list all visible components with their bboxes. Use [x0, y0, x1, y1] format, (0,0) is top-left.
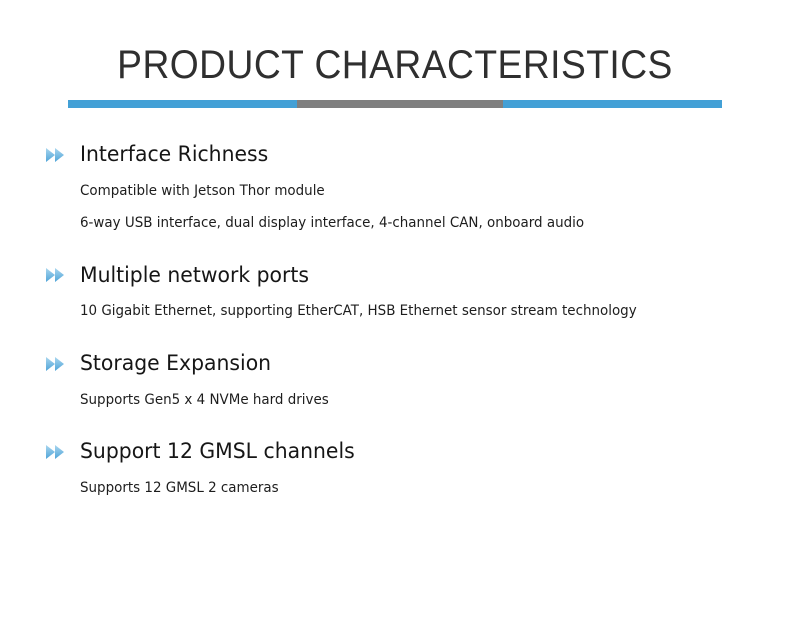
feature-title: Multiple network ports — [80, 263, 309, 288]
feature-title: Interface Richness — [80, 142, 268, 167]
double-chevron-right-icon — [46, 268, 66, 282]
divider-segment-right — [503, 100, 722, 108]
feature-detail-line: Compatible with Jetson Thor module — [80, 182, 717, 200]
feature-detail-line: 6-way USB interface, dual display interf… — [80, 214, 717, 232]
feature-detail-line: Supports 12 GMSL 2 cameras — [80, 479, 717, 497]
feature-list: Interface Richness Compatible with Jetso… — [0, 140, 790, 497]
feature-heading-row: Storage Expansion — [46, 349, 744, 379]
feature-item: Storage Expansion Supports Gen5 x 4 NVMe… — [46, 349, 744, 409]
feature-heading-row: Interface Richness — [46, 140, 744, 170]
feature-title: Storage Expansion — [80, 351, 271, 376]
feature-detail-lines: Compatible with Jetson Thor module 6-way… — [46, 182, 744, 232]
feature-detail-line: Supports Gen5 x 4 NVMe hard drives — [80, 391, 717, 409]
feature-detail-lines: Supports 12 GMSL 2 cameras — [46, 479, 744, 497]
page-title: PRODUCT CHARACTERISTICS — [28, 42, 763, 88]
double-chevron-right-icon — [46, 445, 66, 459]
feature-item: Multiple network ports 10 Gigabit Ethern… — [46, 260, 744, 320]
double-chevron-right-icon — [46, 148, 66, 162]
divider-bar — [68, 100, 722, 108]
feature-heading-row: Multiple network ports — [46, 260, 744, 290]
feature-detail-lines: 10 Gigabit Ethernet, supporting EtherCAT… — [46, 302, 744, 320]
feature-title: Support 12 GMSL channels — [80, 439, 355, 464]
title-block: PRODUCT CHARACTERISTICS — [0, 0, 790, 88]
feature-heading-row: Support 12 GMSL channels — [46, 437, 744, 467]
feature-detail-lines: Supports Gen5 x 4 NVMe hard drives — [46, 391, 744, 409]
product-characteristics-slide: PRODUCT CHARACTERISTICS Int — [0, 0, 790, 638]
feature-item: Interface Richness Compatible with Jetso… — [46, 140, 744, 232]
divider-segment-middle — [297, 100, 503, 108]
divider-segment-left — [68, 100, 297, 108]
feature-item: Support 12 GMSL channels Supports 12 GMS… — [46, 437, 744, 497]
double-chevron-right-icon — [46, 357, 66, 371]
feature-detail-line: 10 Gigabit Ethernet, supporting EtherCAT… — [80, 302, 717, 320]
